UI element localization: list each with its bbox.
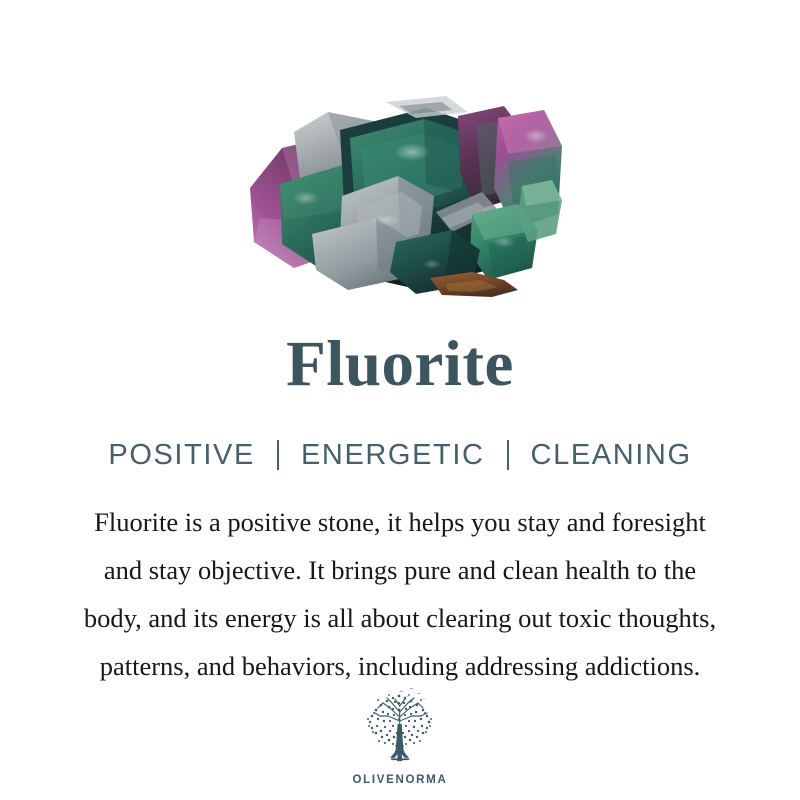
description-line-4: patterns, and behaviors, including addre… [30,642,770,690]
olive-tree-icon [352,686,448,772]
hero-image-area [0,0,800,320]
fluorite-info-card: Fluorite POSITIVE ENERGETIC CLEANING Flu… [0,0,800,800]
keyword-separator-1 [277,440,279,470]
description-text: Fluorite is a positive stone, it helps y… [30,498,770,690]
fluorite-crystal-specimen-image [236,92,566,297]
keyword-positive: POSITIVE [108,441,255,470]
keyword-list: POSITIVE ENERGETIC CLEANING [0,440,800,470]
description-line-2: and stay objective. It brings pure and c… [30,546,770,594]
description-line-3: body, and its energy is all about cleari… [30,594,770,642]
keyword-cleaning: CLEANING [531,441,692,470]
keyword-energetic: ENERGETIC [301,441,485,470]
keyword-separator-2 [507,440,509,470]
brand-wordmark: OLIVENORMA [353,775,448,787]
brand-logo: OLIVENORMA [0,686,800,787]
description-line-1: Fluorite is a positive stone, it helps y… [30,498,770,546]
page-title: Fluorite [0,332,800,397]
